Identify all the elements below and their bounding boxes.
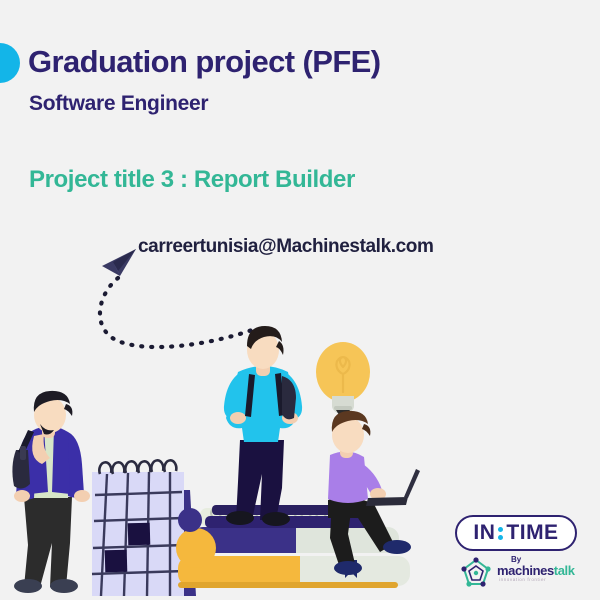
- paper-plane-icon: [102, 249, 136, 276]
- logo-company-teal: talk: [554, 563, 575, 578]
- dotted-trail-icon: [100, 278, 252, 347]
- calendar-spiral: [99, 460, 176, 474]
- network-star-icon: [459, 557, 493, 591]
- logo-company-name: machinestalk: [497, 563, 575, 578]
- brand-logo: IN TIME By machinestalk innovation front…: [455, 515, 580, 595]
- lightbulb-icon: [316, 342, 370, 415]
- standing-student-left: [12, 391, 90, 593]
- standing-student-center: [224, 326, 302, 526]
- accent-circle-yellow: [176, 528, 216, 568]
- poster-canvas: Graduation project (PFE) Software Engine…: [0, 0, 600, 600]
- accent-circle-indigo: [178, 508, 202, 532]
- intime-logo-pill: IN TIME: [455, 515, 577, 551]
- intime-part-time: TIME: [506, 521, 558, 545]
- intime-colon-icon: [498, 527, 503, 540]
- illustration-artwork: [0, 0, 600, 600]
- intime-part-in: IN: [473, 521, 495, 545]
- intime-logo-text: IN TIME: [473, 521, 558, 545]
- logo-tagline: innovation frontier: [499, 577, 546, 582]
- desk-calendar: [92, 460, 185, 596]
- logo-company-dark: machines: [497, 563, 554, 578]
